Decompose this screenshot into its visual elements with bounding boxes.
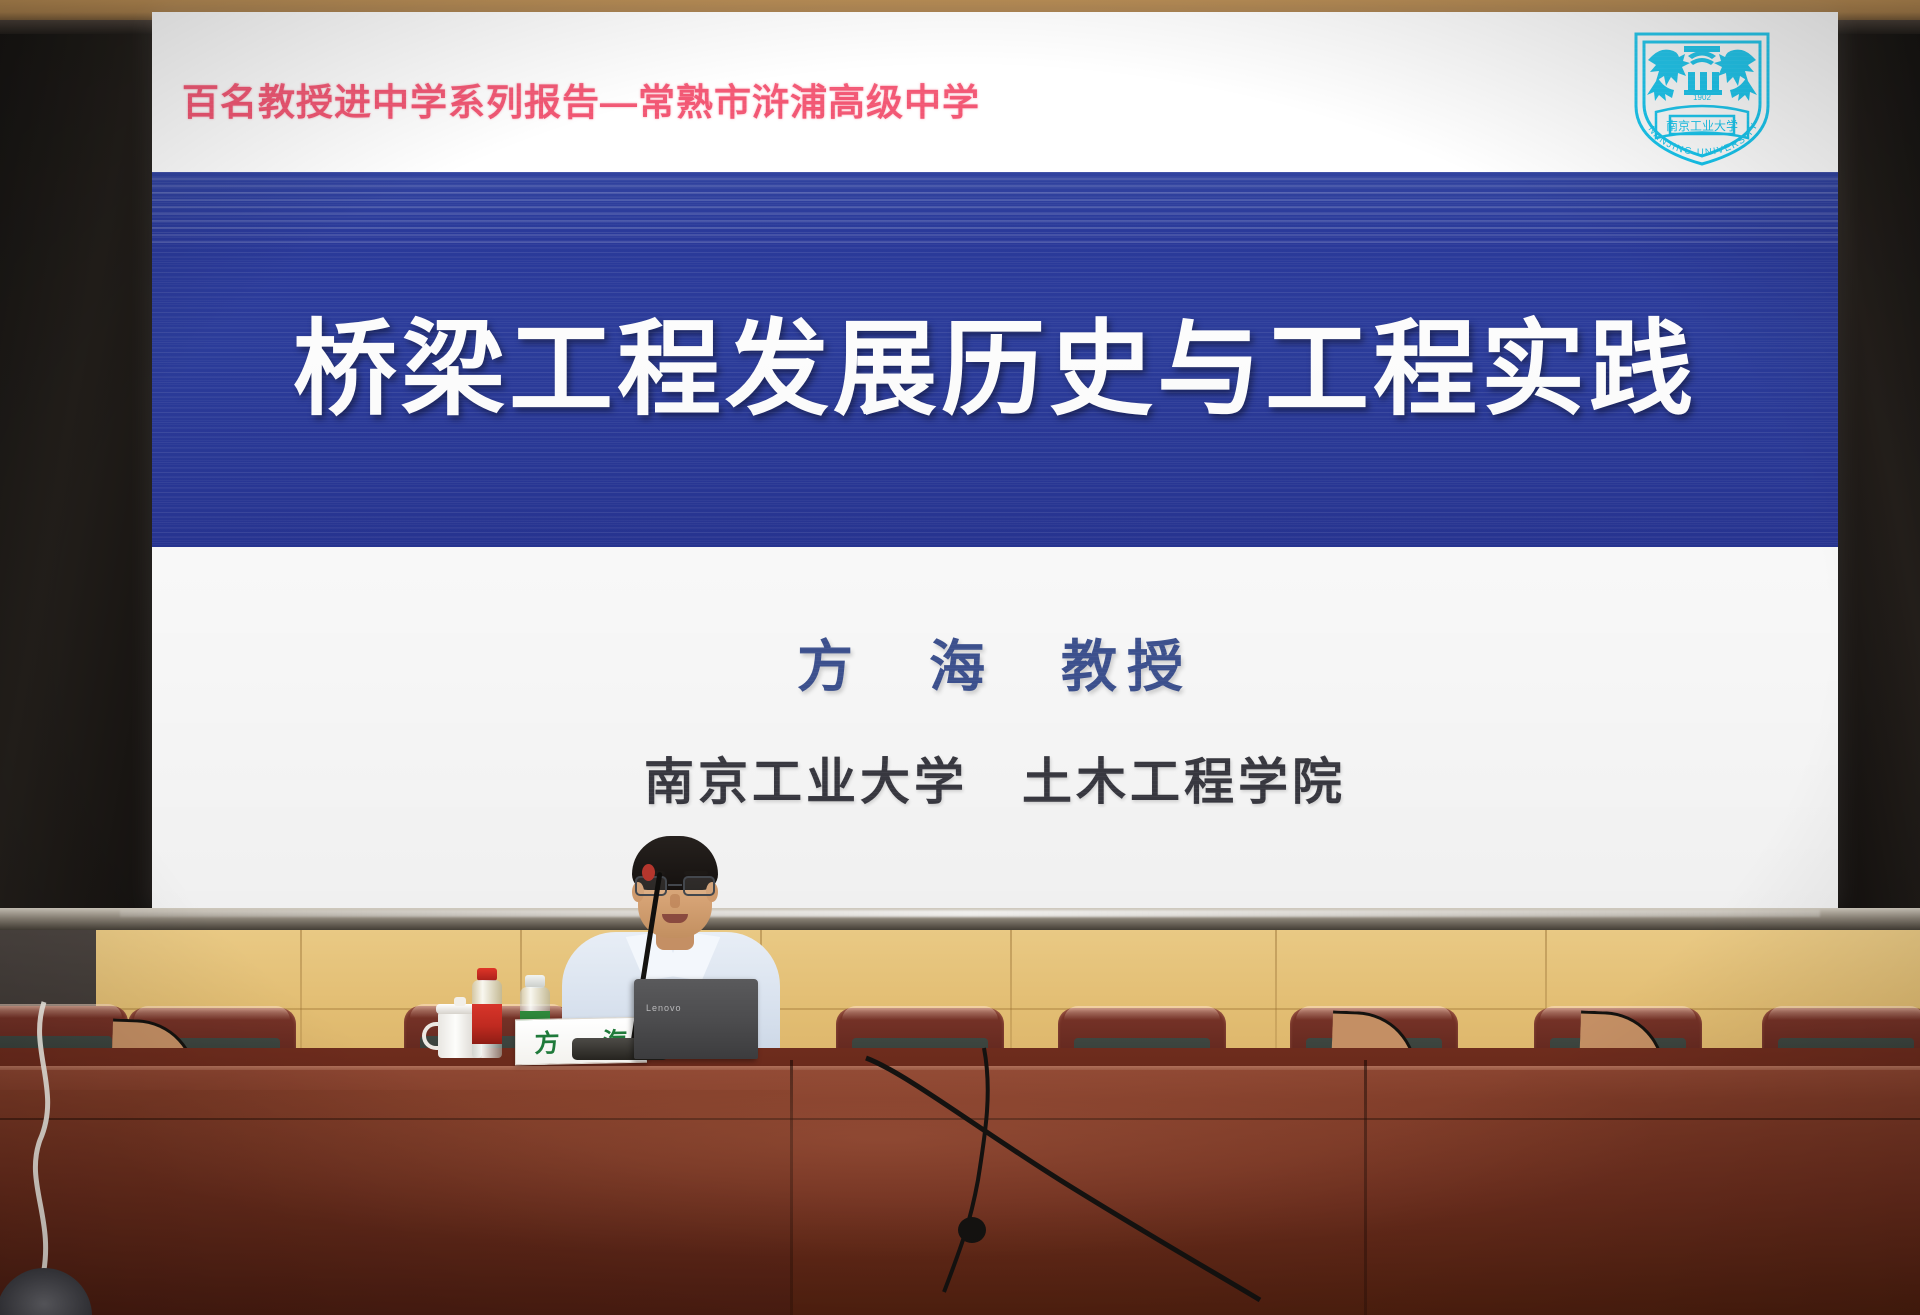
mug-knob	[454, 997, 466, 1006]
lens-right	[683, 876, 715, 896]
water-bottle-red-cap	[470, 968, 504, 1058]
slide-title-text: 桥梁工程发展历史与工程实践	[293, 284, 1697, 435]
chair-rim	[0, 1004, 122, 1018]
projection-screen: 百名教授进中学系列报告—常熟市浒浦高级中学	[152, 12, 1838, 912]
slide-speaker-name: 方 海 教授	[152, 622, 1838, 703]
presenter-eyebrow-right	[684, 871, 708, 875]
slide-affiliation: 南京工业大学 土木工程学院	[152, 742, 1838, 814]
chair-rim	[1064, 1006, 1220, 1020]
wall-left-dark	[0, 34, 152, 918]
projector-scanlines	[152, 178, 1838, 246]
university-crest-icon: 1902 南京工业大学 NANJING UNIVERSITY OF TECHNO…	[1622, 20, 1782, 170]
chair-rim	[842, 1006, 998, 1020]
slide-header-text: 百名教授进中学系列报告—常熟市浒浦高级中学	[182, 72, 1382, 126]
podium-horizontal-groove	[0, 1118, 1920, 1120]
laptop: Lenovo	[634, 979, 758, 1059]
podium-vertical-seam	[790, 1060, 793, 1315]
laptop-brand-label: Lenovo	[646, 1003, 682, 1013]
chair-rim	[134, 1006, 290, 1020]
lecture-hall-scene: 百名教授进中学系列报告—常熟市浒浦高级中学	[0, 0, 1920, 1315]
glasses-bridge	[668, 884, 682, 886]
chair-rim	[1296, 1006, 1452, 1020]
mic-head	[642, 864, 655, 881]
podium-vertical-seam	[1364, 1060, 1367, 1315]
bottle-label	[472, 1004, 502, 1044]
presenter-nose	[670, 894, 680, 908]
chair-rim	[1768, 1006, 1920, 1020]
svg-text:1902: 1902	[1693, 93, 1711, 102]
rail-highlight	[120, 910, 1820, 917]
chair-rim	[1540, 1006, 1696, 1020]
slide-title-band: 桥梁工程发展历史与工程实践	[152, 172, 1838, 547]
podium-left-segment	[0, 1090, 790, 1315]
svg-text:南京工业大学: 南京工业大学	[1666, 118, 1738, 133]
wall-right-dark	[1838, 34, 1920, 918]
